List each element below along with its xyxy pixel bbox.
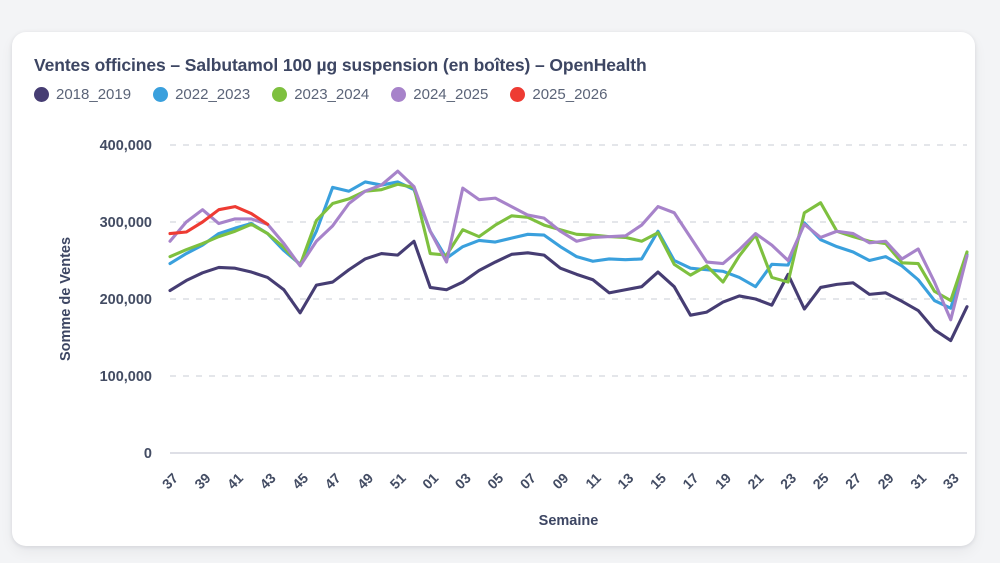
x-axis-tick-label: 09 (549, 470, 571, 492)
x-axis-tick-label: 51 (387, 470, 409, 492)
y-axis-tick-label: 200,000 (100, 292, 152, 308)
x-axis-tick-label: 37 (159, 470, 181, 492)
y-axis-tick-label: 400,000 (100, 138, 152, 154)
series-line-2022_2023[interactable] (170, 182, 967, 308)
x-axis-tick-label: 11 (582, 470, 604, 492)
x-axis-tick-label: 03 (452, 470, 474, 492)
y-axis-title: Somme de Ventes (58, 237, 74, 361)
y-axis-tick-label: 300,000 (100, 215, 152, 231)
x-axis-tick-label: 25 (809, 470, 831, 492)
x-axis-tick-label: 23 (777, 470, 799, 492)
x-axis-tick-label: 01 (419, 470, 441, 492)
x-axis-tick-label: 45 (289, 470, 311, 492)
x-axis-tick-label: 07 (517, 470, 539, 492)
chart-plot-area: 0100,000200,000300,000400,000Somme de Ve… (12, 32, 975, 546)
x-axis-tick-label: 17 (679, 470, 701, 492)
x-axis-tick-label: 19 (712, 470, 734, 492)
line-chart: 0100,000200,000300,000400,000Somme de Ve… (12, 32, 975, 546)
x-axis-tick-label: 39 (191, 470, 213, 492)
x-axis-tick-label: 29 (874, 470, 896, 492)
y-axis-tick-label: 100,000 (100, 369, 152, 385)
screenshot-root: Ventes officines – Salbutamol 100 µg sus… (0, 0, 1000, 563)
x-axis-tick-label: 21 (744, 470, 766, 492)
x-axis-tick-label: 05 (484, 470, 506, 492)
x-axis-title: Semaine (539, 513, 599, 529)
x-axis-tick-label: 31 (907, 470, 929, 492)
x-axis-tick-label: 41 (224, 470, 246, 492)
x-axis-tick-label: 49 (354, 470, 376, 492)
x-axis-tick-label: 33 (940, 470, 962, 492)
x-axis-tick-label: 15 (647, 470, 669, 492)
chart-card: Ventes officines – Salbutamol 100 µg sus… (12, 32, 975, 546)
x-axis-tick-label: 47 (321, 470, 343, 492)
x-axis-tick-label: 43 (256, 470, 278, 492)
x-axis-tick-label: 13 (614, 470, 636, 492)
y-axis-tick-label: 0 (144, 446, 152, 462)
x-axis-tick-label: 27 (842, 470, 864, 492)
